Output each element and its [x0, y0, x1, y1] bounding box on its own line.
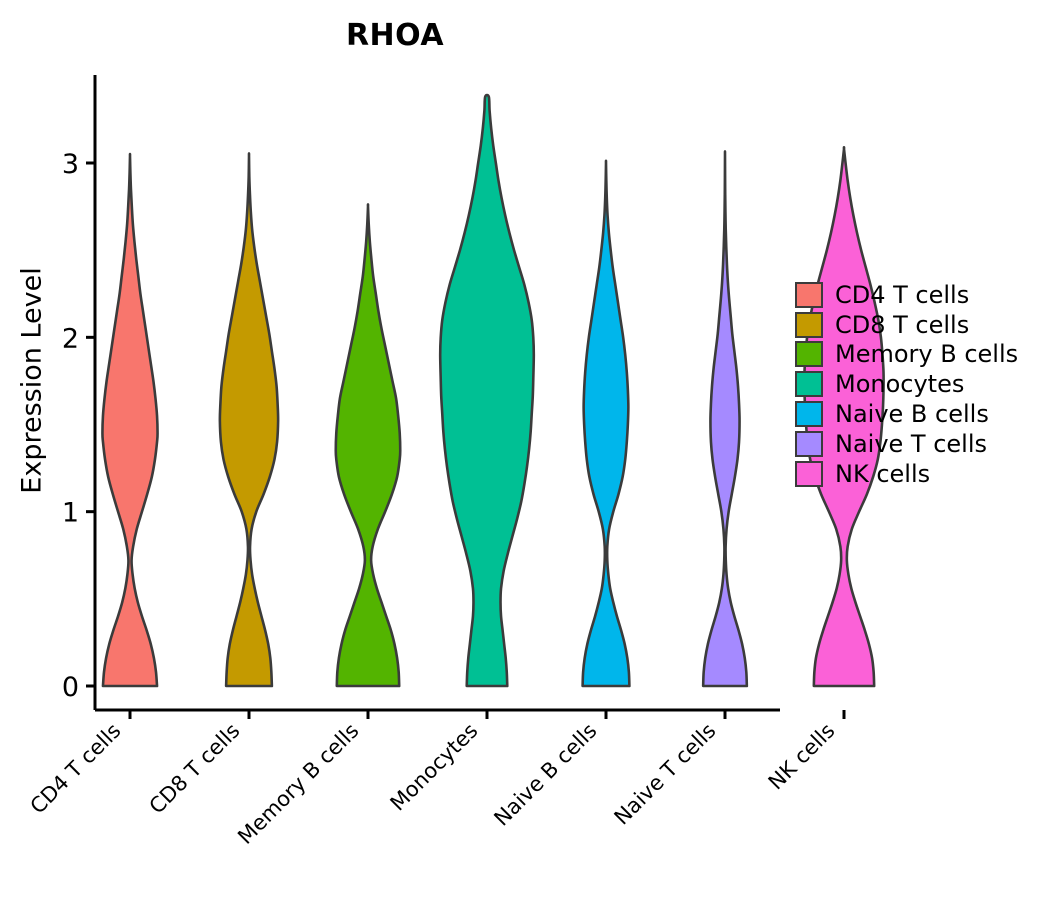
x-axis-tick-label-group: CD8 T cells — [145, 719, 245, 819]
legend-item-cd8-t-cells[interactable]: CD8 T cells — [795, 310, 1018, 340]
legend-color-swatch — [795, 282, 823, 308]
x-axis-tick-label-group: Naive T cells — [610, 719, 721, 830]
legend-item-naive-t-cells[interactable]: Naive T cells — [795, 429, 1018, 459]
legend-color-swatch — [795, 341, 823, 367]
violin-cd8-t-cells[interactable] — [220, 153, 278, 686]
x-axis-tick-label: Monocytes — [386, 719, 483, 816]
x-axis-tick-label-group: Monocytes — [386, 719, 483, 816]
legend-item-nk-cells[interactable]: NK cells — [795, 459, 1018, 489]
x-axis-tick-label: Naive T cells — [610, 719, 721, 830]
violin-plot-figure: RHOA Expression Level 0123CD4 T cellsCD8… — [0, 0, 1050, 900]
x-axis-tick-label-group: Naive B cells — [489, 719, 601, 831]
legend-item-memory-b-cells[interactable]: Memory B cells — [795, 340, 1018, 370]
x-axis-tick-label-group: Memory B cells — [233, 719, 363, 849]
legend-color-swatch — [795, 371, 823, 397]
x-axis-tick-label: Memory B cells — [233, 719, 363, 849]
legend-color-swatch — [795, 461, 823, 487]
legend-item-label: Naive B cells — [835, 402, 989, 426]
legend-item-label: Monocytes — [835, 372, 964, 396]
legend-item-label: Memory B cells — [835, 342, 1018, 366]
legend-item-cd4-t-cells[interactable]: CD4 T cells — [795, 280, 1018, 310]
violin-memory-b-cells[interactable] — [336, 204, 400, 686]
y-axis-tick-label: 3 — [62, 149, 79, 180]
violin-monocytes[interactable] — [440, 95, 534, 686]
legend-color-swatch — [795, 312, 823, 338]
x-axis-tick-label: CD4 T cells — [26, 719, 126, 819]
x-axis-tick-label-group: CD4 T cells — [26, 719, 126, 819]
x-axis-tick-label: NK cells — [764, 719, 840, 795]
x-axis-tick-label-group: NK cells — [764, 719, 840, 795]
legend-item-label: NK cells — [835, 462, 930, 486]
y-axis-tick-label: 1 — [62, 498, 79, 529]
legend-color-swatch — [795, 431, 823, 457]
violin-naive-t-cells[interactable] — [703, 151, 747, 686]
legend-item-monocytes[interactable]: Monocytes — [795, 369, 1018, 399]
legend-item-label: Naive T cells — [835, 432, 987, 456]
x-axis-tick-label: CD8 T cells — [145, 719, 245, 819]
legend-item-naive-b-cells[interactable]: Naive B cells — [795, 399, 1018, 429]
violin-cd4-t-cells[interactable] — [102, 154, 157, 686]
legend: CD4 T cellsCD8 T cellsMemory B cellsMono… — [795, 280, 1018, 489]
x-axis-tick-label: Naive B cells — [489, 719, 601, 831]
y-axis-tick-label: 0 — [62, 672, 79, 703]
y-axis-tick-label: 2 — [62, 323, 79, 354]
legend-item-label: CD4 T cells — [835, 283, 969, 307]
legend-color-swatch — [795, 401, 823, 427]
violin-naive-b-cells[interactable] — [583, 161, 630, 686]
legend-item-label: CD8 T cells — [835, 313, 969, 337]
